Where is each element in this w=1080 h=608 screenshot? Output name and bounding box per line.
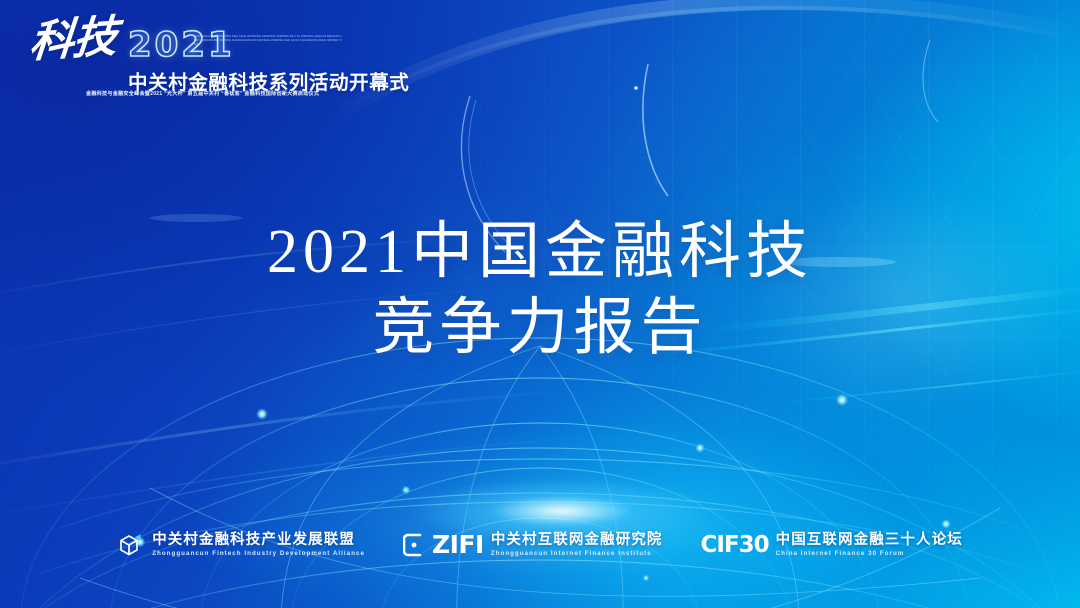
logo-name-en: China Internet Finance 30 Forum (776, 549, 963, 558)
logo-zhongguancun-fintech-alliance: 中关村金融科技产业发展联盟 Zhongguancun Fintech Indus… (117, 531, 365, 559)
logo-name-en: Zhongguancun Fintech Industry Developmen… (152, 549, 365, 558)
logo-name-cn: 中关村金融科技产业发展联盟 (152, 532, 365, 549)
keji-calligraphy-logo: 科技 (28, 15, 119, 65)
logo-zhongguancun-internet-finance-institute: ZIFI 中关村互联网金融研究院 Zhongguancun Internet F… (403, 532, 662, 558)
zifi-bracket-icon (403, 532, 425, 558)
logo-name-cn: 中关村互联网金融研究院 (491, 532, 663, 549)
logo-text-group: 中国互联网金融三十人论坛 China Internet Finance 30 F… (776, 532, 963, 558)
main-title-line-2: 竞争力报告 (0, 290, 1080, 366)
cif30-wordmark: CIF30 (700, 533, 768, 557)
main-title-block: 2021中国金融科技 竞争力报告 (0, 214, 1080, 366)
logo-name-cn: 中国互联网金融三十人论坛 (776, 532, 963, 549)
logo-china-internet-finance-30-forum: CIF30 中国互联网金融三十人论坛 China Internet Financ… (700, 532, 962, 558)
event-subtitle: 金融科技与金融安全峰会暨2021 “光大杯” 第五届中关村 “番钛客” 金融科技… (86, 90, 319, 97)
sponsor-logo-bar: 中关村金融科技产业发展联盟 Zhongguancun Fintech Indus… (0, 524, 1080, 566)
main-title-line-1: 2021中国金融科技 (0, 214, 1080, 290)
logo-text-group: 中关村互联网金融研究院 Zhongguancun Internet Financ… (491, 532, 663, 558)
event-header-lockup: 科技 2021 ZHONGGUANCUN JINRONG KEJI XILIE … (24, 22, 354, 108)
logo-text-group: 中关村金融科技产业发展联盟 Zhongguancun Fintech Indus… (152, 532, 365, 558)
zifi-wordmark: ZIFI (432, 532, 484, 558)
logo-name-en: Zhongguancun Internet Finance Institute (491, 549, 663, 558)
poster-slide: 科技 2021 ZHONGGUANCUN JINRONG KEJI XILIE … (0, 0, 1080, 608)
header-top-row: 科技 2021 ZHONGGUANCUN JINRONG KEJI XILIE … (24, 22, 354, 72)
micro-english-text: ZHONGGUANCUN JINRONG KEJI XILIE HUODONG … (194, 35, 342, 47)
cube-logo-icon (117, 531, 145, 559)
